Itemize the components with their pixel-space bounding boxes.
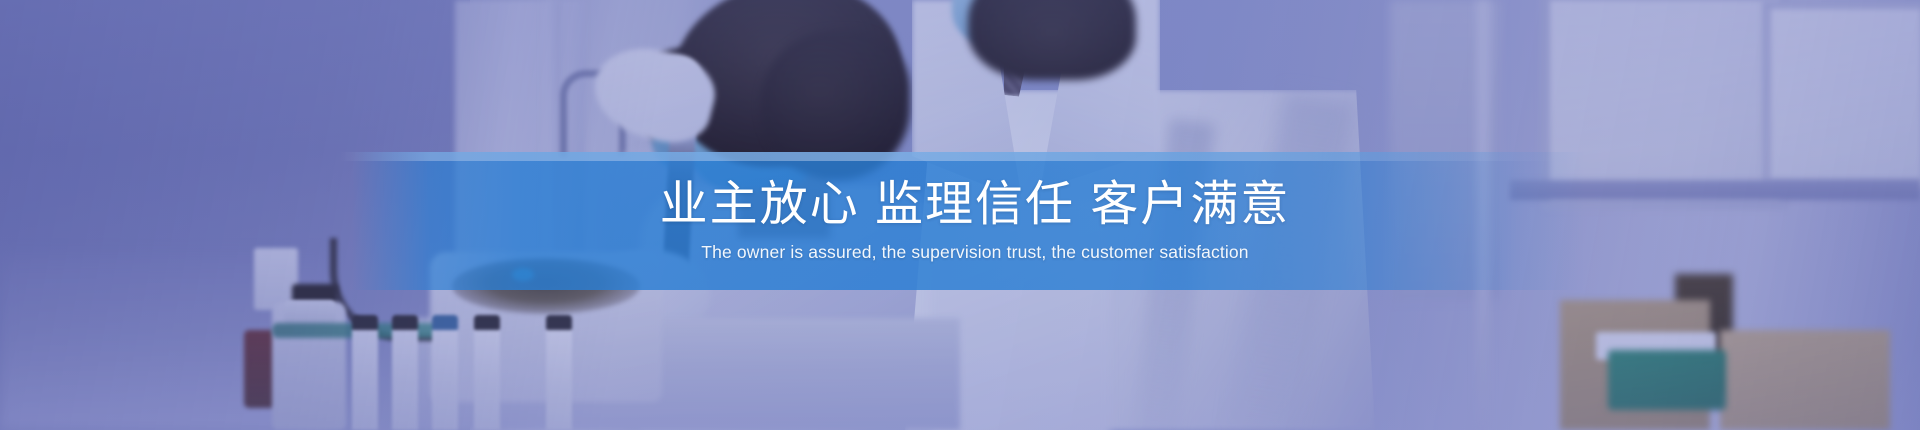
banner-headline: 业主放心 监理信任 客户满意 — [430, 179, 1520, 231]
banner-text-block: 业主放心 监理信任 客户满意 The owner is assured, the… — [0, 152, 1920, 290]
banner-subheadline: The owner is assured, the supervision tr… — [430, 242, 1520, 263]
hero-banner: 业主放心 监理信任 客户满意 The owner is assured, the… — [0, 0, 1920, 430]
banner-text-inner: 业主放心 监理信任 客户满意 The owner is assured, the… — [430, 179, 1520, 263]
